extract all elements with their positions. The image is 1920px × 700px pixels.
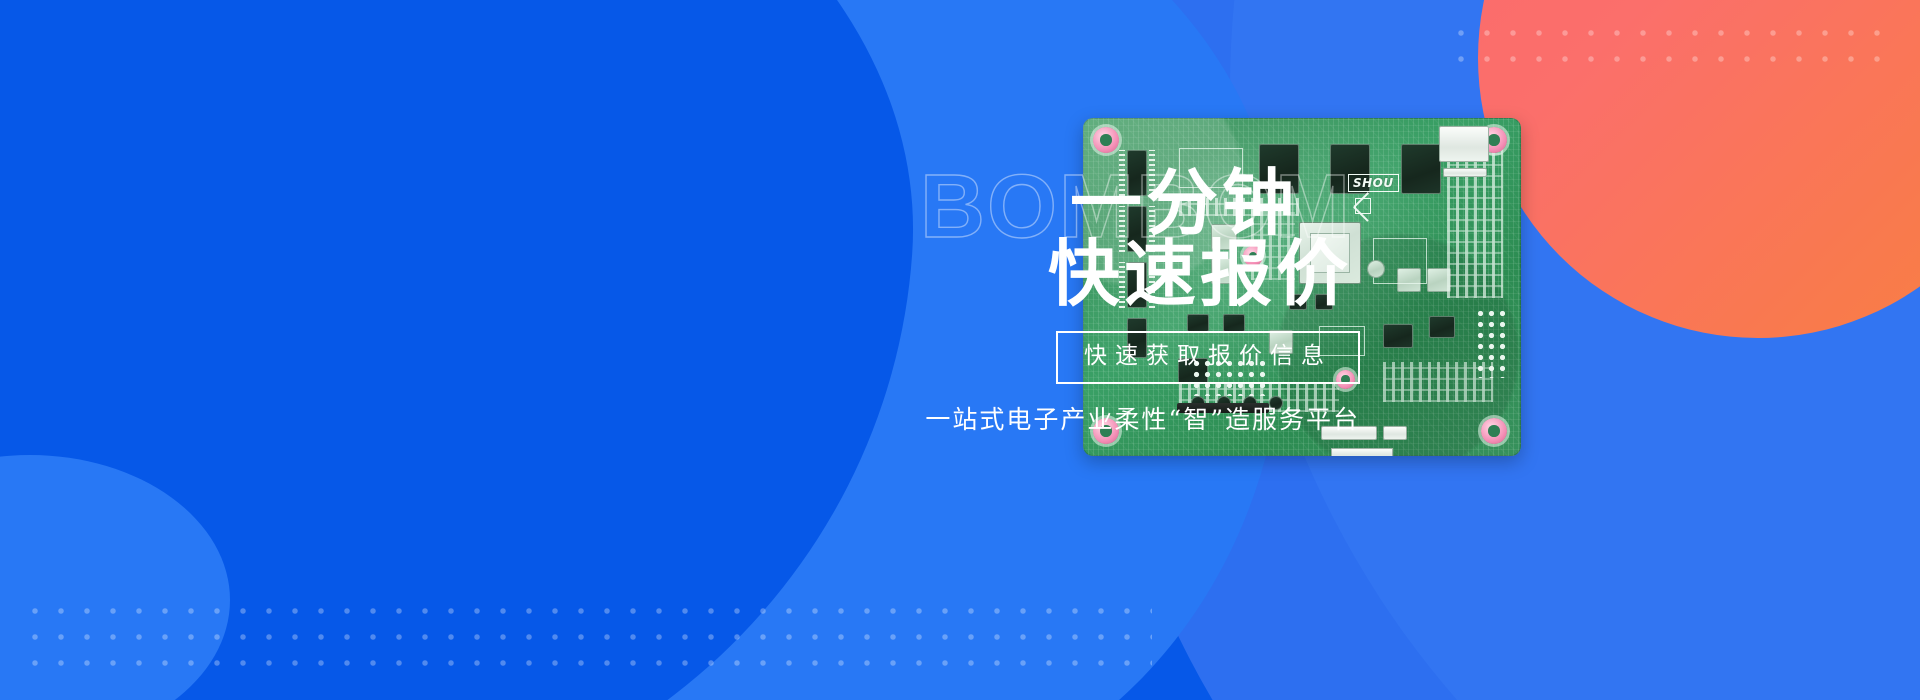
dot-grid-top-right	[1448, 20, 1898, 72]
get-quote-button[interactable]: 快速获取报价信息	[1056, 331, 1360, 384]
mounting-pad-top-left	[1093, 127, 1119, 153]
via-grid-right	[1475, 308, 1505, 378]
edge-connector-3	[1383, 426, 1407, 440]
tagline-text: 一站式电子产业柔性“智”造服务平台	[740, 400, 1360, 436]
card-slot-connector	[1439, 126, 1489, 162]
board-tab-bottom	[1331, 448, 1393, 456]
edge-connector-1	[1443, 168, 1487, 177]
mounting-pad-bottom-right	[1481, 418, 1507, 444]
ic-small-6	[1429, 316, 1455, 338]
headline-line-2: 快速报价	[740, 239, 1352, 310]
crystal-oscillator	[1367, 260, 1385, 278]
banner-copy: BOMBOM 一分钟 快速报价 快速获取报价信息 一站式电子产业柔性“智”造服务…	[740, 168, 1360, 436]
page-title: 一分钟 快速报价	[740, 168, 1360, 309]
ic-small-5	[1383, 324, 1413, 348]
ic-large-3	[1401, 144, 1441, 194]
promo-banner: SHOU BOMBOM 一分钟 快速报价 快速获取报价信息 一站式电子产业柔性“…	[0, 0, 1920, 700]
headline-line-1: 一分钟	[740, 168, 1352, 239]
dot-grid-bottom-left	[22, 598, 1152, 676]
